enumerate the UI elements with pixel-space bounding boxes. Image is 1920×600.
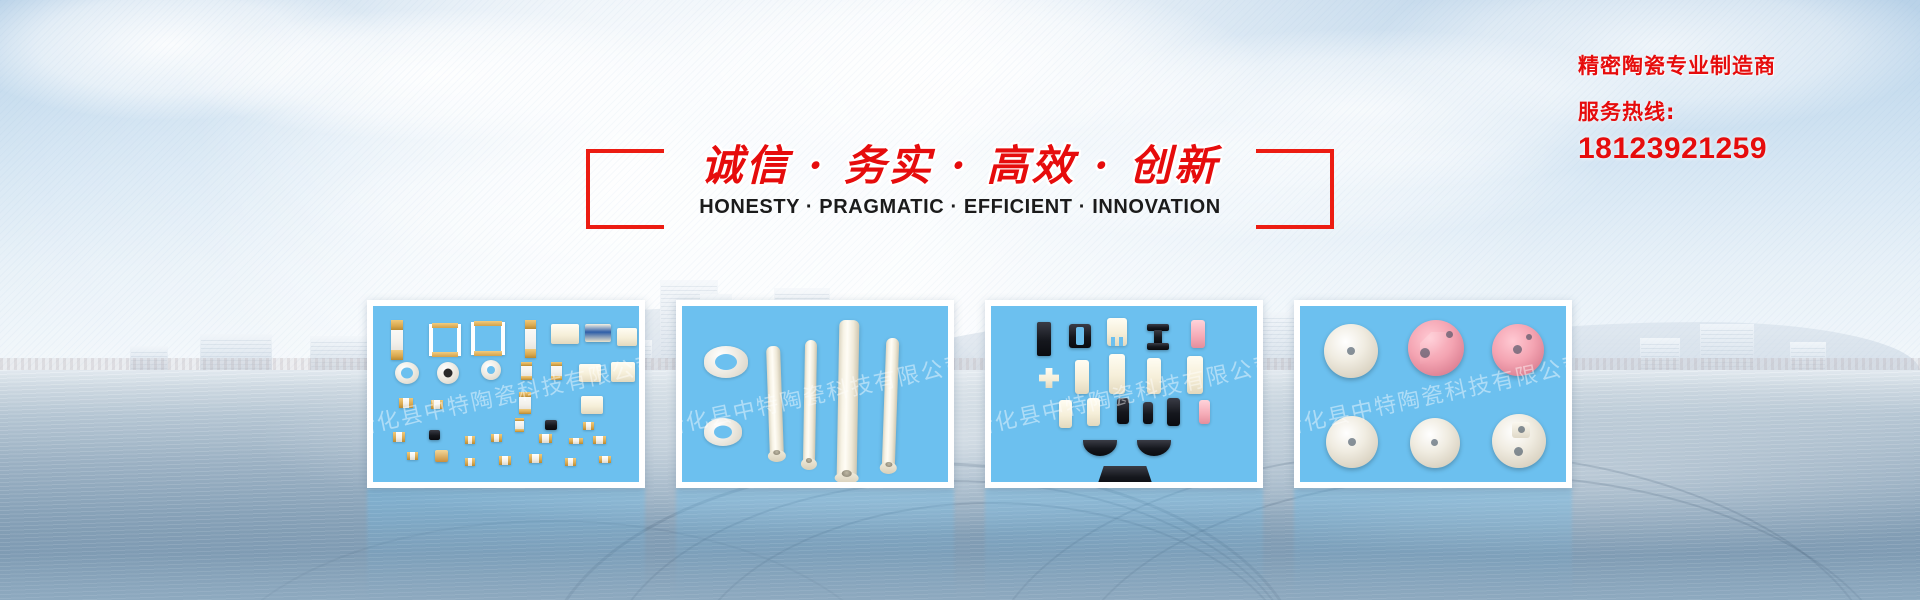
slogan-block: 诚信 · 务实 · 高效 · 创新 HONESTY · PRAGMATIC · … [586,144,1334,226]
ceramic-disc-part [1326,416,1378,468]
ceramic-chip-part [593,436,606,444]
cloud-shape [180,10,700,140]
ceramic-block-part [1037,322,1051,356]
ceramic-substrate-part [617,328,637,346]
ceramic-chip-part [407,452,418,460]
ceramic-pcb-part [585,324,611,342]
ceramic-slotted-part [1107,318,1127,346]
ceramic-tube-part [766,346,784,458]
panel-image-area: 新化县中特陶瓷科技有限公司 [991,306,1257,482]
tire-track-arc [1060,474,1904,600]
panel-image-area: 新化县中特陶瓷科技有限公司 [1300,306,1566,482]
ceramic-cross-part [1039,368,1059,388]
ceramic-arc-tile [1083,440,1117,456]
product-panel-formed-ceramics[interactable]: 新化县中特陶瓷科技有限公司 [985,300,1263,488]
ceramic-ibeam-part [1147,343,1169,350]
panel-watermark: 新化县中特陶瓷科技有限公司 [373,346,639,442]
ceramic-block-part [1167,398,1180,426]
ceramic-chip-part [429,430,440,440]
ceramic-substrate-part [611,362,635,382]
ceramic-disc-part [1492,414,1546,468]
ceramic-block-part [1147,358,1161,394]
product-panel-ceramic-tubes[interactable]: 新化县中特陶瓷科技有限公司 [676,300,954,488]
ceramic-tube-part [882,338,900,470]
ceramic-wedge-part [1097,466,1153,482]
ceramic-chip-part [391,320,403,360]
ceramic-block-part [1143,402,1153,424]
ceramic-chip-part [529,454,542,463]
ceramic-block-part [1075,360,1089,394]
ceramic-arc-tile [1137,440,1171,456]
ceramic-tube-part [837,320,860,480]
wet-ground-surface [0,370,1920,600]
cloud-shape [0,0,380,120]
ceramic-chip-part [393,432,405,442]
ceramic-chip-part [435,450,448,462]
product-panel-ceramic-discs[interactable]: 新化县中特陶瓷科技有限公司 [1294,300,1572,488]
ceramic-ibeam-part [1154,330,1162,344]
ceramic-chip-part [431,400,443,409]
tire-track-arc [200,520,904,600]
ceramic-chip-part [399,398,413,408]
ceramic-chip-part [499,456,511,465]
ceramic-substrate-part [581,396,603,414]
tire-track-arc [600,480,1304,600]
product-panel-smd-chips[interactable]: 新化县中特陶瓷科技有限公司 [367,300,645,488]
ceramic-block-part [1109,354,1125,394]
ceramic-chip-part [525,320,536,358]
ceramic-disc-pink-part [1408,320,1464,376]
ceramic-chip-part [539,434,552,443]
slogan-english: HONESTY · PRAGMATIC · EFFICIENT · INNOVA… [586,196,1334,219]
ceramic-disc-pink-part [1492,324,1544,376]
ceramic-ring-part [429,324,461,356]
ceramic-chip-part [583,422,594,430]
ceramic-chip-part [599,456,611,463]
ceramic-chip-part [519,392,531,414]
company-tagline: 精密陶瓷专业制造商 [1578,50,1776,80]
ceramic-chip-part [545,420,557,430]
ceramic-hbracket-part [1069,324,1091,348]
ceramic-block-part [1117,398,1129,424]
ceramic-chip-part [521,362,532,380]
panel-image-area: 新化县中特陶瓷科技有限公司 [682,306,948,482]
ceramic-chip-part [465,436,475,444]
ceramic-ring-part [395,362,419,384]
ceramic-substrate-part [551,324,579,344]
ceramic-chip-part [465,458,475,466]
ceramic-disc-part [1410,418,1460,468]
contact-block: 精密陶瓷专业制造商 服务热线: 18123921259 [1578,50,1776,166]
ceramic-ring-part [481,360,501,380]
ceramic-chip-part [515,418,524,432]
ceramic-substrate-part [579,364,601,382]
ceramic-pink-part [1191,320,1205,348]
panel-image-area: 新化县中特陶瓷科技有限公司 [373,306,639,482]
ceramic-ring-part [471,322,505,355]
ceramic-chip-part [565,458,576,466]
ceramic-ring-part [437,362,459,384]
ceramic-ring-part [704,418,742,446]
hotline-label: 服务热线: [1578,96,1776,126]
ceramic-block-part [1087,398,1100,426]
slogan-chinese: 诚信 · 务实 · 高效 · 创新 [586,132,1334,193]
ceramic-tube-part [803,340,817,466]
tire-track-arc [680,502,1304,600]
ceramic-block-part [1059,400,1072,428]
hotline-phone-number[interactable]: 18123921259 [1578,132,1776,166]
ceramic-pink-part [1199,400,1210,424]
ceramic-ring-part [704,346,748,378]
ceramic-chip-part [491,434,502,442]
ground-sheen [0,370,1920,600]
ceramic-disc-part [1324,324,1378,378]
ceramic-chip-part [551,362,562,380]
ceramic-chip-part [569,438,583,444]
ceramic-block-part [1187,356,1203,394]
hero-banner: 诚信 · 务实 · 高效 · 创新 HONESTY · PRAGMATIC · … [0,0,1920,600]
